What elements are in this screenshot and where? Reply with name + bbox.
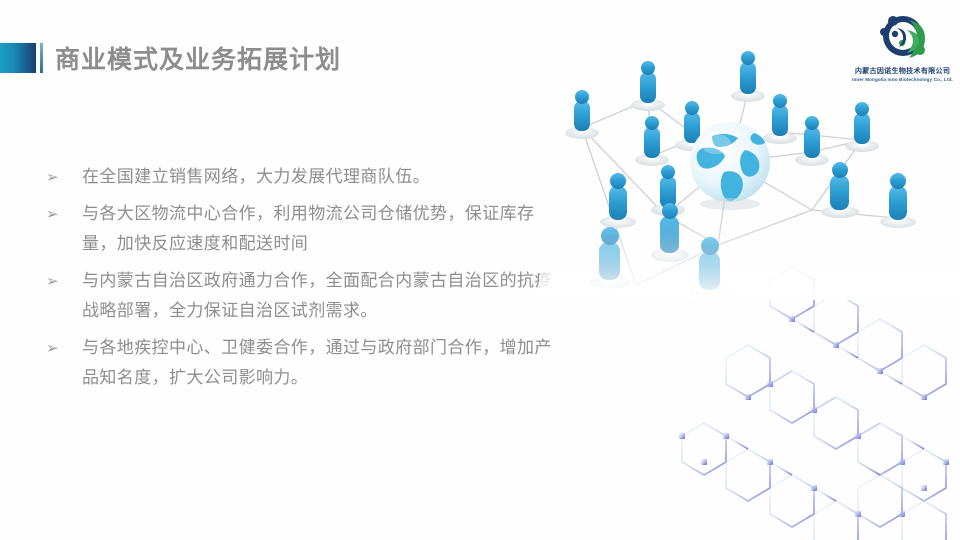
title-accent-bar — [0, 43, 36, 73]
arrow-bullet-icon: ➢ — [46, 266, 82, 296]
arrow-bullet-icon: ➢ — [46, 333, 82, 363]
company-name-en: Inner Mongolia Inno Biotechnology Co., L… — [845, 77, 960, 82]
page-title: 商业模式及业务拓展计划 — [0, 42, 341, 74]
bullet-text: 在全国建立销售网络，大力发展代理商队伍。 — [82, 162, 566, 192]
molecule-circle-leaf-icon — [875, 10, 931, 62]
page-title-text: 商业模式及业务拓展计划 — [55, 40, 341, 76]
bullet-text: 与各地疾控中心、卫健委合作，通过与政府部门合作，增加产品知名度，扩大公司影响力。 — [82, 333, 566, 393]
bullet-list: ➢ 在全国建立销售网络，大力发展代理商队伍。 ➢ 与各大区物流中心合作，利用物流… — [46, 162, 566, 400]
slide-canvas: 商业模式及业务拓展计划 ➢ 在全国建立销售网络，大力发展代理商队伍。 ➢ 与各大… — [0, 0, 960, 540]
company-logo: 内蒙古因诺生物技术有限公司 Inner Mongolia Inno Biotec… — [845, 10, 960, 82]
list-item: ➢ 与各大区物流中心合作，利用物流公司仓储优势，保证库存量，加快反应速度和配送时… — [46, 199, 566, 259]
title-accent-tick — [40, 43, 43, 73]
company-name-cn: 内蒙古因诺生物技术有限公司 — [848, 65, 956, 75]
bullet-text: 与内蒙古自治区政府通力合作，全面配合内蒙古自治区的抗疫战略部署，全力保证自治区试… — [82, 266, 566, 326]
list-item: ➢ 在全国建立销售网络，大力发展代理商队伍。 — [46, 162, 566, 192]
list-item: ➢ 与各地疾控中心、卫健委合作，通过与政府部门合作，增加产品知名度，扩大公司影响… — [46, 333, 566, 393]
arrow-bullet-icon: ➢ — [46, 162, 82, 192]
bullet-text: 与各大区物流中心合作，利用物流公司仓储优势，保证库存量，加快反应速度和配送时间 — [82, 199, 566, 259]
list-item: ➢ 与内蒙古自治区政府通力合作，全面配合内蒙古自治区的抗疫战略部署，全力保证自治… — [46, 266, 566, 326]
arrow-bullet-icon: ➢ — [46, 199, 82, 229]
